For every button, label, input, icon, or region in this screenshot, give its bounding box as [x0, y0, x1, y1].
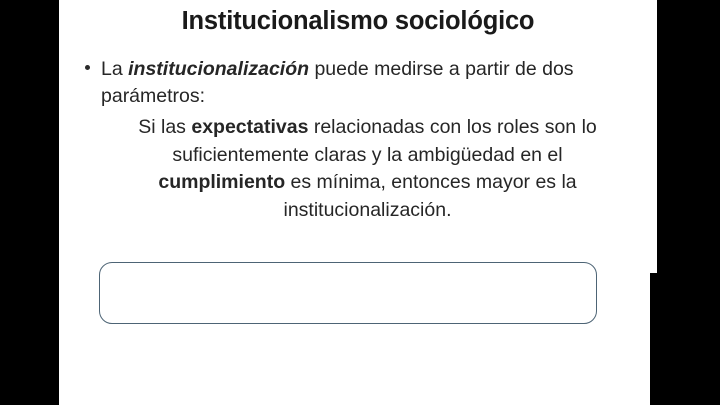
paragraph-bold-2: cumplimiento [158, 171, 285, 193]
bullet-text: La institucionalización puede medirse a … [101, 56, 630, 110]
paragraph-part-1: Si las [138, 116, 191, 138]
rail-background-occluder [650, 273, 720, 405]
paragraph-part-3: es mínima, entonces mayor es la instituc… [283, 171, 576, 221]
screen-share-view: Institucionalismo sociológico La institu… [0, 0, 720, 405]
paragraph-bold-1: expectativas [191, 116, 308, 138]
bullet-emphasis: institucionalización [128, 58, 309, 80]
bullet-text-before: La [101, 58, 128, 80]
slide-paragraph: Si las expectativas relacionadas con los… [85, 114, 630, 224]
slide-title: Institucionalismo sociológico [59, 7, 657, 36]
bullet-marker-icon [85, 56, 101, 70]
letterbox-left [0, 0, 59, 405]
empty-rounded-rectangle-placeholder [99, 262, 597, 324]
presentation-slide: Institucionalismo sociológico La institu… [59, 0, 657, 405]
bullet-item: La institucionalización puede medirse a … [85, 56, 630, 110]
slide-body: La institucionalización puede medirse a … [85, 56, 630, 224]
